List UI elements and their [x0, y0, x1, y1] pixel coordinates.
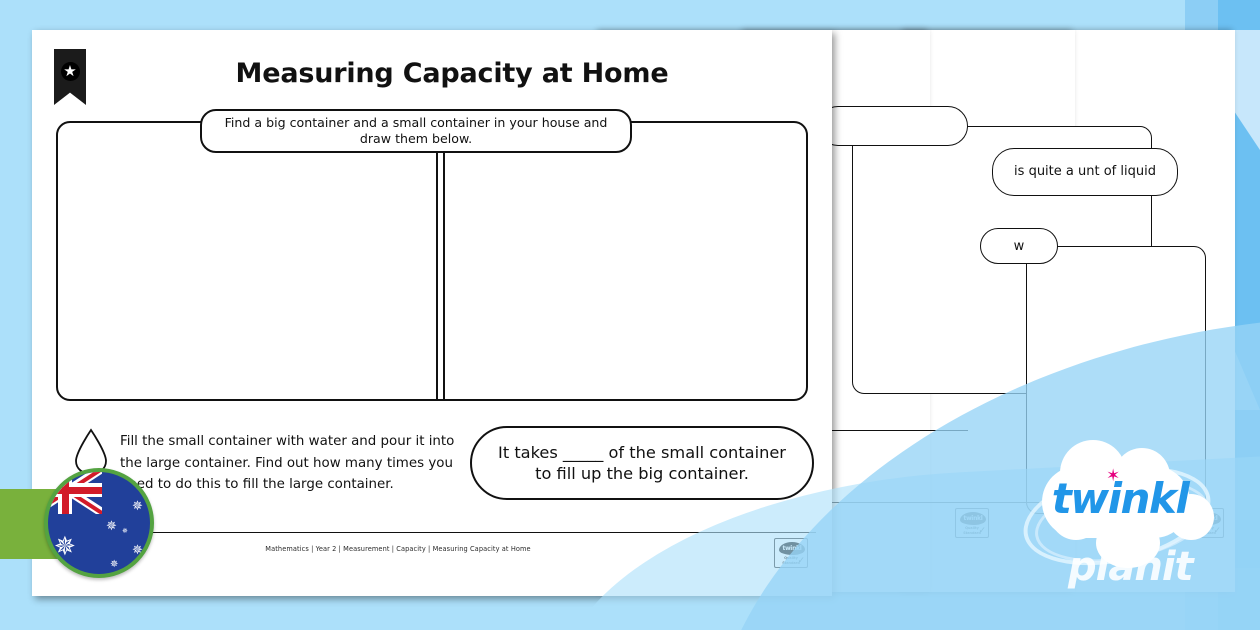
task-instruction-text: Fill the small container with water and …	[120, 431, 458, 496]
screenshot-stage: is quite a unt of liquid w twinkl Qualit…	[0, 0, 1260, 630]
back-page-2-pill-small: w	[980, 228, 1058, 264]
drawing-area-frame[interactable]	[56, 121, 808, 401]
instruction-pill: Find a big container and a small contain…	[200, 109, 632, 153]
bookmark-star-icon: ★	[54, 49, 86, 105]
twinkl-logo[interactable]: planit ✶ twinkl	[1020, 448, 1220, 588]
southern-cross-star-icon-3: ✵	[132, 544, 143, 557]
union-jack-canton	[44, 468, 102, 514]
commonwealth-star-icon: ✵	[54, 534, 76, 560]
star-icon: ✶	[1106, 468, 1120, 485]
union-cross-horizontal-red	[44, 487, 102, 494]
back-page-1-pill	[818, 106, 968, 146]
star-glyph: ★	[63, 64, 76, 79]
southern-cross-star-icon-2: ✵	[106, 520, 117, 533]
page-title: Measuring Capacity at Home	[92, 58, 812, 89]
footer-breadcrumb: Mathematics | Year 2 | Measurement | Cap…	[48, 545, 748, 553]
bookmark-star-disc: ★	[61, 62, 80, 81]
southern-cross-star-icon-1: ✵	[132, 500, 143, 513]
drawing-area-divider-right	[443, 121, 445, 401]
southern-cross-star-icon-5: ✵	[122, 528, 128, 535]
drawing-area-divider-left	[436, 121, 438, 401]
back-page-2-pill: is quite a unt of liquid	[992, 148, 1178, 196]
planit-wordmark: planit	[1068, 544, 1193, 590]
australian-flag-badge: ✵ ✵ ✵ ✵ ✵ ✵	[44, 468, 154, 578]
southern-cross-star-icon-4: ✵	[110, 560, 118, 570]
answer-sentence-pill[interactable]: It takes _____ of the small container to…	[470, 426, 814, 500]
